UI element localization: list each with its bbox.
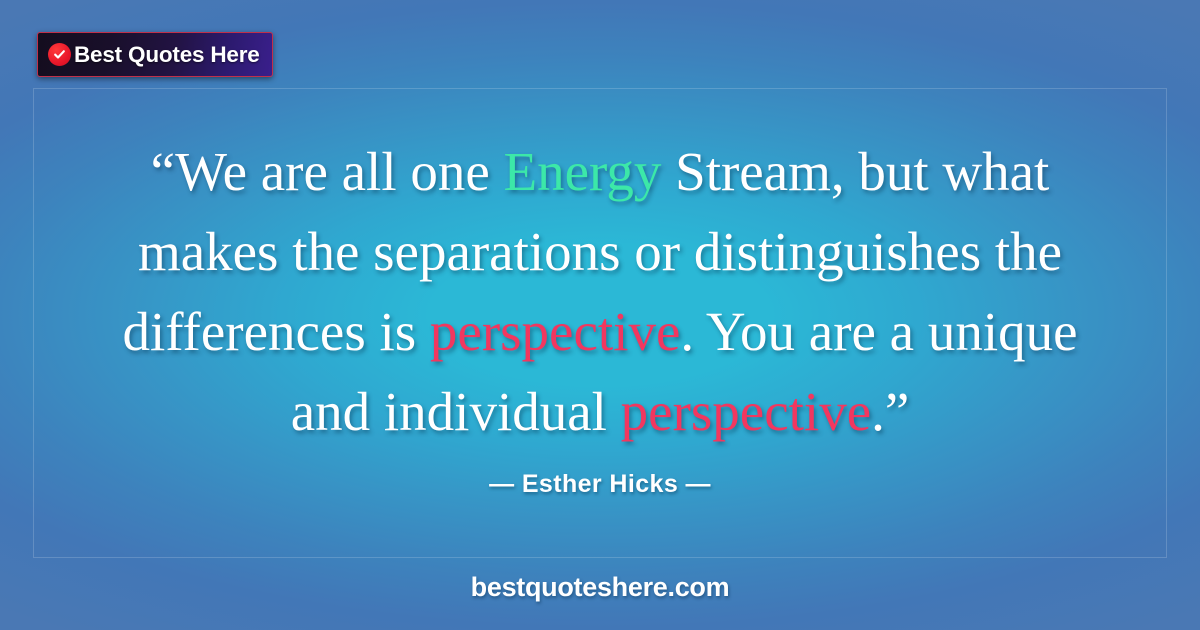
quote-line: and individual perspective.”: [0, 372, 1200, 452]
quote-attribution: — Esther Hicks —: [0, 470, 1200, 499]
quote-segment: and individual: [291, 381, 621, 442]
quote-highlight-perspective: perspective: [430, 301, 680, 362]
quote-segment: . You are a unique: [680, 301, 1077, 362]
brand-badge[interactable]: Best Quotes Here: [37, 32, 273, 77]
quote-highlight-perspective: perspective: [621, 381, 871, 442]
quote-segment: makes the separations or distinguishes t…: [138, 221, 1062, 282]
quote-line: “We are all one Energy Stream, but what: [0, 132, 1200, 212]
quote-line: makes the separations or distinguishes t…: [0, 212, 1200, 292]
quote-segment: differences is: [122, 301, 429, 362]
quote-highlight-energy: Energy: [504, 141, 662, 202]
brand-badge-label: Best Quotes Here: [74, 42, 260, 68]
quote-segment: Stream, but what: [661, 141, 1049, 202]
quote-segment: .”: [871, 381, 909, 442]
quote-line: differences is perspective. You are a un…: [0, 292, 1200, 372]
quote-text: “We are all one Energy Stream, but what …: [0, 132, 1200, 452]
quote-segment: “We are all one: [151, 141, 504, 202]
website-footer[interactable]: bestquoteshere.com: [0, 572, 1200, 603]
quote-card: Best Quotes Here “We are all one Energy …: [0, 0, 1200, 630]
check-circle-icon: [48, 43, 71, 66]
